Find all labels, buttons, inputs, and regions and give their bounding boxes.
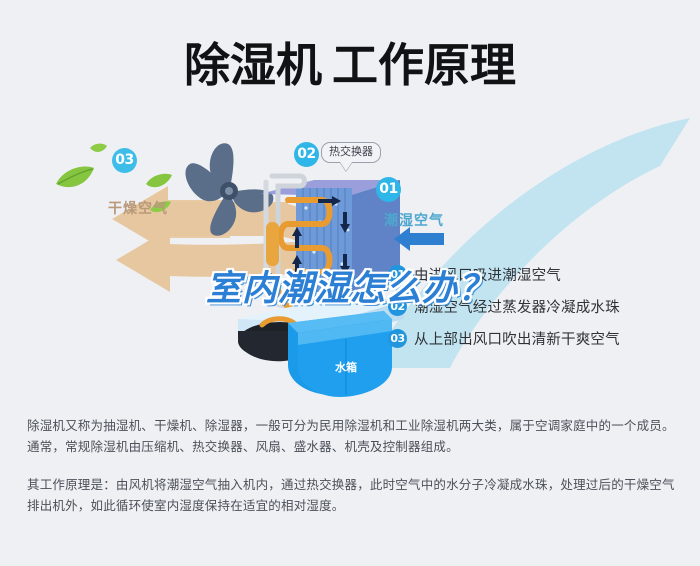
heat-exchanger-callout: 热交换器 <box>321 142 381 163</box>
badge-01: 01 <box>376 177 401 202</box>
step-number-03: 03 <box>388 329 407 348</box>
step-item-01: 01 由进风口吸进潮湿空气 <box>388 258 688 290</box>
page-title: 除湿机工作原理 <box>0 36 700 94</box>
body-paragraph-1: 除湿机又称为抽湿机、干燥机、除湿器，一般可分为民用除湿机和工业除湿机两大类，属于… <box>27 415 675 457</box>
body-copy: 除湿机又称为抽湿机、干燥机、除湿器，一般可分为民用除湿机和工业除湿机两大类，属于… <box>27 415 675 516</box>
step-item-02: 02 潮湿空气经过蒸发器冷凝成水珠 <box>388 290 688 322</box>
step-text-01: 由进风口吸进潮湿空气 <box>414 264 561 285</box>
humid-air-label: 潮湿空气 <box>384 210 444 230</box>
step-item-03: 03 从上部出风口吹出清新干爽空气 <box>388 322 688 354</box>
step-number-02: 02 <box>388 297 407 316</box>
page-title-part1: 除湿机 <box>184 38 322 92</box>
dry-air-label: 干燥空气 <box>108 198 168 218</box>
step-text-03: 从上部出风口吹出清新干爽空气 <box>414 328 620 349</box>
badge-03: 03 <box>112 148 137 173</box>
dehumidifier-diagram: 水箱 03 02 01 热交换器 干燥空气 潮湿空气 01 由进风口吸进潮湿空气… <box>0 120 700 405</box>
callout-tail-icon <box>340 162 352 171</box>
air-intake-arrow-icon <box>392 227 448 251</box>
body-paragraph-2: 其工作原理是：由风机将潮湿空气抽入机内，通过热交换器，此时空气中的水分子冷凝成水… <box>27 474 675 516</box>
step-number-01: 01 <box>388 265 407 284</box>
infographic-page: 除湿机工作原理 <box>0 0 700 566</box>
water-tank-label: 水箱 <box>335 360 357 374</box>
steps-list: 01 由进风口吸进潮湿空气 02 潮湿空气经过蒸发器冷凝成水珠 03 从上部出风… <box>388 258 688 354</box>
badge-02: 02 <box>294 142 319 167</box>
page-title-part2: 工作原理 <box>332 38 516 92</box>
step-text-02: 潮湿空气经过蒸发器冷凝成水珠 <box>414 296 620 317</box>
